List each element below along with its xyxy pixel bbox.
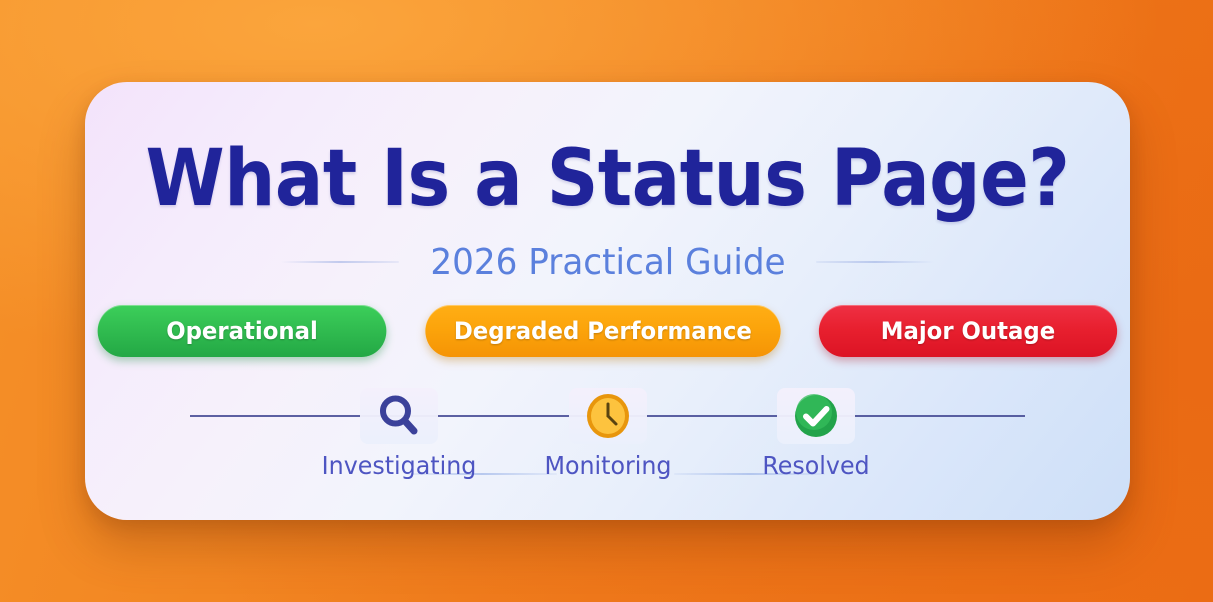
subtitle-rule-right <box>816 261 934 263</box>
timeline-step-monitoring[interactable]: Monitoring <box>513 382 703 480</box>
status-pill-group: Operational Degraded Performance Major O… <box>85 305 1130 357</box>
magnifier-icon <box>376 393 422 439</box>
timeline-step-resolved[interactable]: Resolved <box>721 382 911 480</box>
timeline-step-monitoring-label: Monitoring <box>517 451 698 480</box>
status-pill-operational[interactable]: Operational <box>97 305 386 357</box>
check-circle-icon <box>793 393 839 439</box>
clock-icon <box>585 393 631 439</box>
status-pill-major-outage[interactable]: Major Outage <box>819 305 1117 357</box>
page-title: What Is a Status Page? <box>127 134 1088 224</box>
timeline-step-investigating[interactable]: Investigating <box>304 382 494 480</box>
subtitle-rule-left <box>281 261 399 263</box>
status-page-card: What Is a Status Page? 2026 Practical Gu… <box>85 82 1130 520</box>
timeline-step-resolved-label: Resolved <box>726 451 907 480</box>
timeline-step-investigating-label: Investigating <box>309 451 490 480</box>
status-pill-major-outage-label: Major Outage <box>881 317 1055 345</box>
incident-timeline: Investigating Monitoring <box>190 382 1025 482</box>
status-pill-degraded-performance-label: Degraded Performance <box>453 317 751 345</box>
page-subtitle: 2026 Practical Guide <box>430 242 785 283</box>
subtitle-row: 2026 Practical Guide <box>85 240 1130 284</box>
status-pill-operational-label: Operational <box>166 317 318 345</box>
status-pill-degraded-performance[interactable]: Degraded Performance <box>425 305 780 357</box>
